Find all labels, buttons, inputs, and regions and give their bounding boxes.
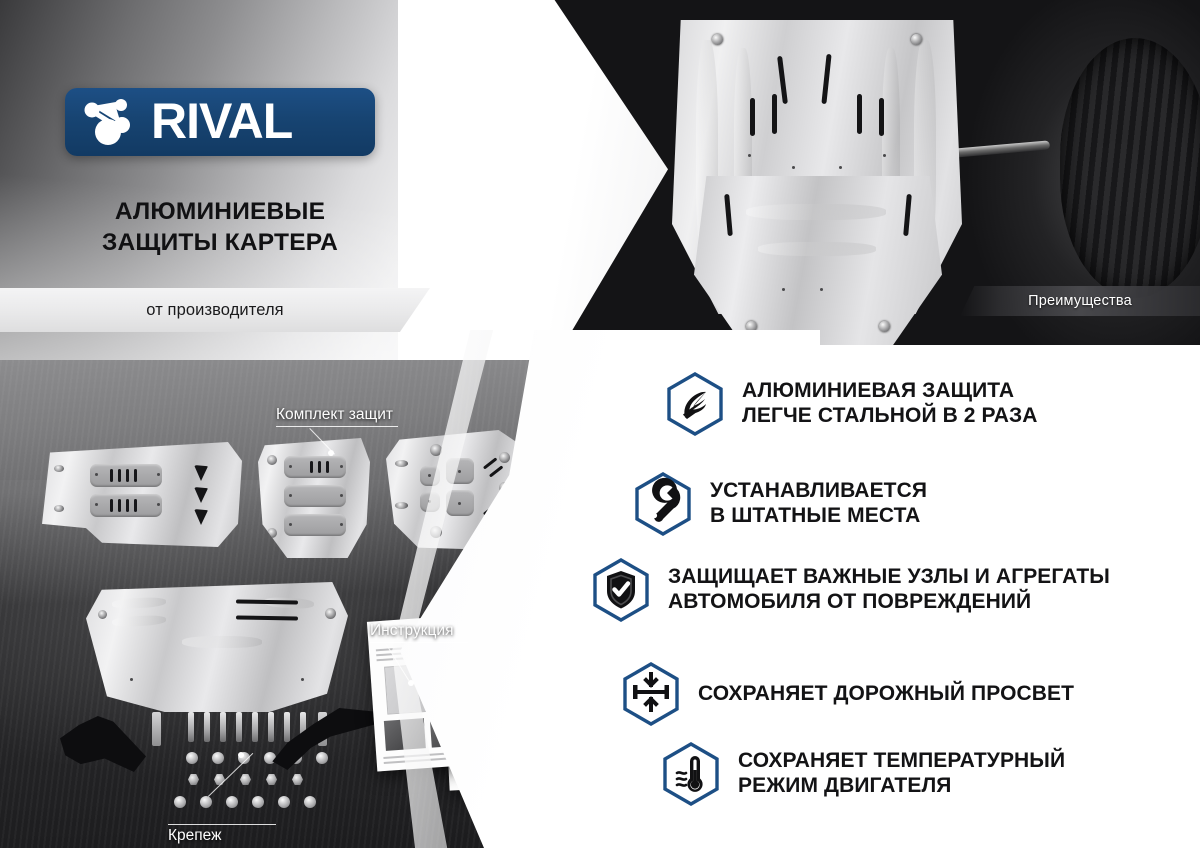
- callout-kit: Комплект защит: [276, 406, 398, 427]
- promo-banner: Преимущества RIVAL: [0, 0, 1200, 848]
- thermometer-icon: [662, 742, 720, 806]
- tire-graphic: [1060, 38, 1200, 298]
- wrench-icon: [634, 472, 692, 536]
- feature-label-fitment: УСТАНАВЛИВАЕТСЯ В ШТАТНЫЕ МЕСТА: [710, 479, 927, 529]
- feature-item-fitment: УСТАНАВЛИВАЕТСЯ В ШТАТНЫЕ МЕСТА: [634, 472, 927, 536]
- feature-item-temperature: СОХРАНЯЕТ ТЕМПЕРАТУРНЫЙ РЕЖИМ ДВИГАТЕЛЯ: [662, 742, 1065, 806]
- feature-label-clearance: СОХРАНЯЕТ ДОРОЖНЫЙ ПРОСВЕТ: [698, 682, 1074, 707]
- shield-check-icon: [592, 558, 650, 622]
- logo-wordmark: RIVAL: [151, 96, 292, 146]
- feature-label-lightweight: АЛЮМИНИЕВАЯ ЗАЩИТА ЛЕГЧЕ СТАЛЬНОЙ В 2 РА…: [742, 379, 1038, 429]
- callout-kit-label: Комплект защит: [276, 406, 398, 424]
- callout-fasteners-label: Крепеж: [168, 827, 276, 845]
- skid-plate-center: [258, 438, 370, 558]
- callout-instruction-label: Инструкция: [370, 622, 468, 640]
- molecule-icon: [81, 94, 141, 150]
- feature-item-protection: ЗАЩИЩАЕТ ВАЖНЫЕ УЗЛЫ И АГРЕГАТЫ АВТОМОБИ…: [592, 558, 1110, 622]
- skid-plate-large: [86, 582, 348, 712]
- transmission-skid-plate: [694, 176, 942, 345]
- callout-fasteners: Крепеж: [168, 796, 276, 845]
- feature-label-protection: ЗАЩИЩАЕТ ВАЖНЫЕ УЗЛЫ И АГРЕГАТЫ АВТОМОБИ…: [668, 565, 1110, 615]
- feather-icon: [666, 372, 724, 436]
- title-line-2: ЗАЩИТЫ КАРТЕРА: [102, 227, 338, 258]
- subtitle-bar: от производителя: [0, 288, 430, 332]
- feature-item-clearance: СОХРАНЯЕТ ДОРОЖНЫЙ ПРОСВЕТ: [622, 662, 1074, 726]
- rival-logo: RIVAL: [65, 88, 375, 156]
- features-list: АЛЮМИНИЕВАЯ ЗАЩИТА ЛЕГЧЕ СТАЛЬНОЙ В 2 РА…: [600, 350, 1200, 848]
- callout-instruction: Инструкция: [370, 622, 468, 643]
- page-title: АЛЮМИНИЕВЫЕ ЗАЩИТЫ КАРТЕРА: [102, 196, 338, 259]
- ground-clearance-icon: [622, 662, 680, 726]
- advantages-tab: Преимущества: [960, 286, 1200, 316]
- subtitle-text: от производителя: [146, 301, 283, 320]
- feature-label-temperature: СОХРАНЯЕТ ТЕМПЕРАТУРНЫЙ РЕЖИМ ДВИГАТЕЛЯ: [738, 749, 1065, 799]
- title-line-1: АЛЮМИНИЕВЫЕ: [102, 196, 338, 227]
- feature-item-lightweight: АЛЮМИНИЕВАЯ ЗАЩИТА ЛЕГЧЕ СТАЛЬНОЙ В 2 РА…: [666, 372, 1038, 436]
